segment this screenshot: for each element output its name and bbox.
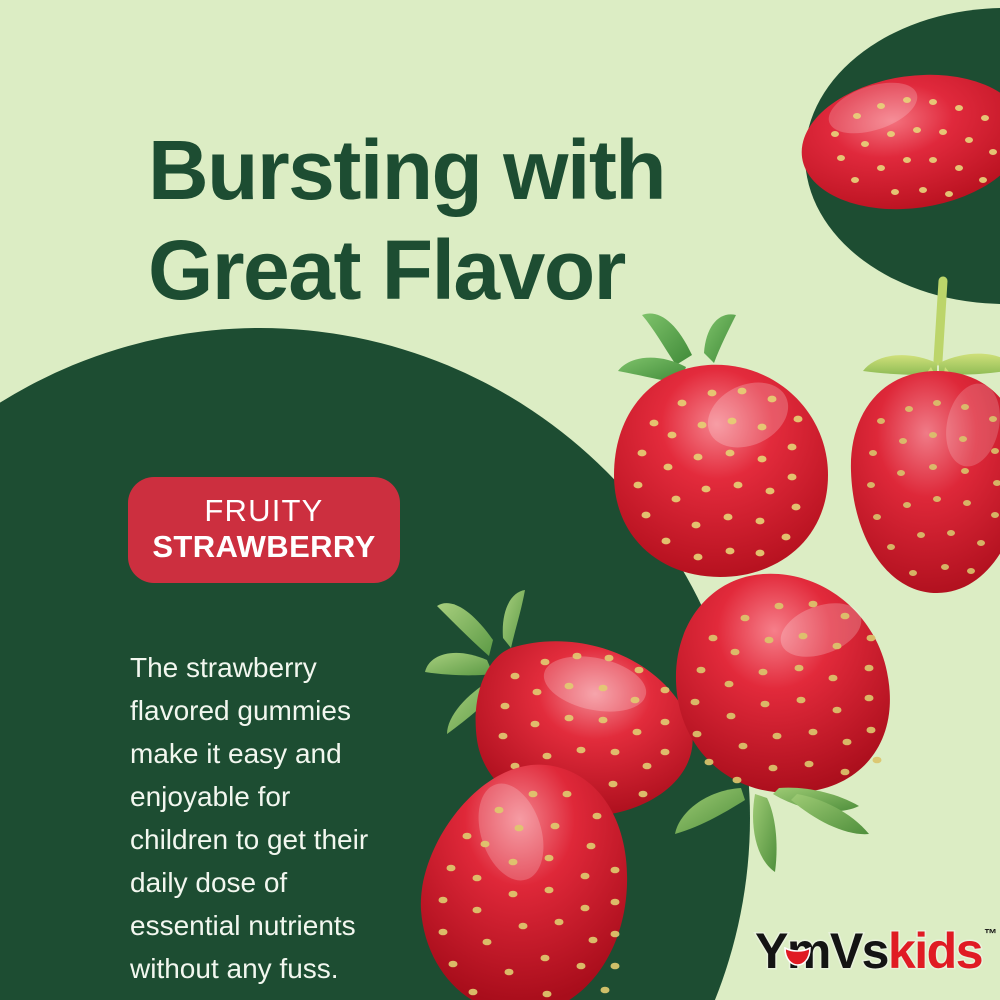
- strawberry-right-stem-icon: [845, 275, 1000, 605]
- strawberry-center-icon: [580, 295, 850, 585]
- body-paragraph: The strawberry flavored gummies make it …: [130, 646, 396, 990]
- flavor-badge: FRUITY STRAWBERRY: [128, 477, 400, 583]
- trademark-symbol: ™: [984, 927, 997, 940]
- flavor-badge-line-1: FRUITY: [204, 495, 323, 528]
- headline-line-2: Great Flavor: [148, 228, 788, 312]
- poster-canvas: Bursting with Great Flavor FRUITY STRAWB…: [0, 0, 1000, 1000]
- logo-wordmark: YmVskids: [755, 925, 982, 977]
- logo-text-kids: kids: [888, 923, 982, 979]
- strawberry-cluster-lower-icon: [415, 760, 685, 1000]
- page-headline: Bursting with Great Flavor: [148, 128, 788, 312]
- strawberry-top-right-icon: [795, 50, 1000, 230]
- strawberry-cluster-upper-right-icon: [645, 560, 915, 880]
- red-smile-icon: [784, 947, 811, 966]
- logo-text-y: Y: [755, 923, 787, 979]
- headline-line-1: Bursting with: [148, 128, 788, 212]
- brand-logo: YmVskids ™: [755, 925, 997, 981]
- flavor-badge-line-2: STRAWBERRY: [152, 530, 375, 565]
